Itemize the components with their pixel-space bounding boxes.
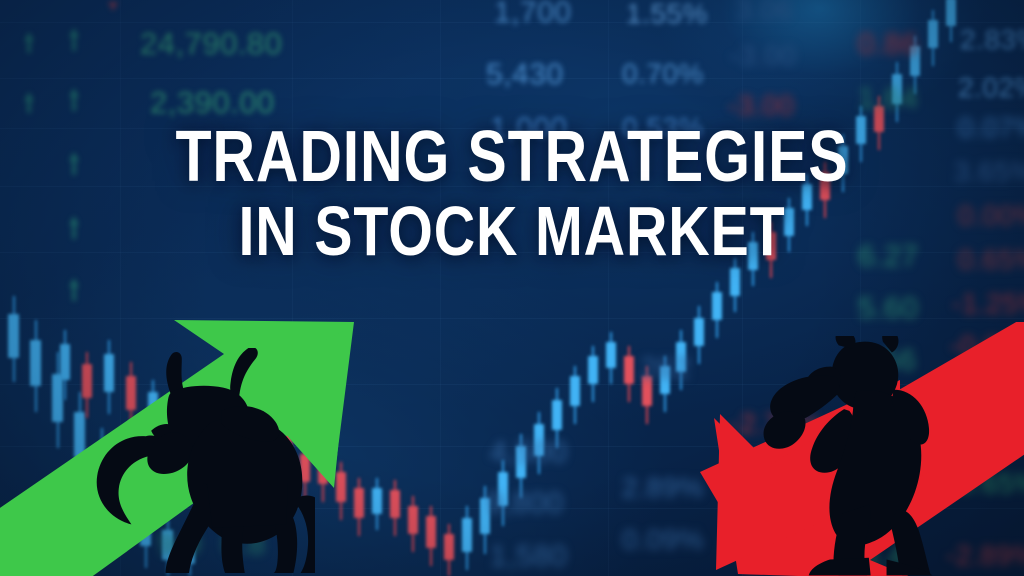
- title-block: TRADING STRATEGIES IN STOCK MARKET: [0, 122, 1024, 267]
- ticker-right-pct-6: -1.25%: [952, 288, 1024, 320]
- ticker-right-pct-0: 2.83%: [960, 24, 1024, 56]
- ticker-price-0: 0.86: [858, 28, 918, 62]
- ticker-left-1: 2,390.00: [150, 85, 275, 121]
- ticker-center-1: 5,430: [486, 58, 564, 92]
- ticker-price-3: 5.60: [858, 292, 918, 326]
- ticker-price-1: 1.64: [858, 82, 918, 116]
- ticker-center-5: 1,580: [490, 540, 568, 574]
- ticker-center-pct-0: 1.55%: [626, 0, 708, 30]
- ticker-price-7: 262: [640, 352, 692, 386]
- ticker-center-pct-1: 0.70%: [622, 58, 704, 90]
- ticker-right-pct-1: 2.02%: [958, 72, 1024, 104]
- title-line-2: IN STOCK MARKET: [92, 197, 932, 266]
- ticker-center-0: 1,700: [494, 0, 572, 30]
- ticker-neg-3: 3.06: [736, 0, 793, 26]
- ticker-center-3: 4,500: [490, 436, 568, 470]
- ticker-center-4: 9,800: [486, 487, 564, 521]
- thumbnail-canvas: 24,790.80 2,390.00 1,700 5,430 1,000 4,5…: [0, 0, 1024, 576]
- bull-silhouette: [45, 348, 315, 573]
- title-line-1: TRADING STRATEGIES: [92, 122, 932, 193]
- bear-silhouette: [745, 336, 975, 576]
- ticker-left-0: 24,790.80: [140, 26, 282, 62]
- ticker-neg-0: -3.00: [730, 40, 796, 72]
